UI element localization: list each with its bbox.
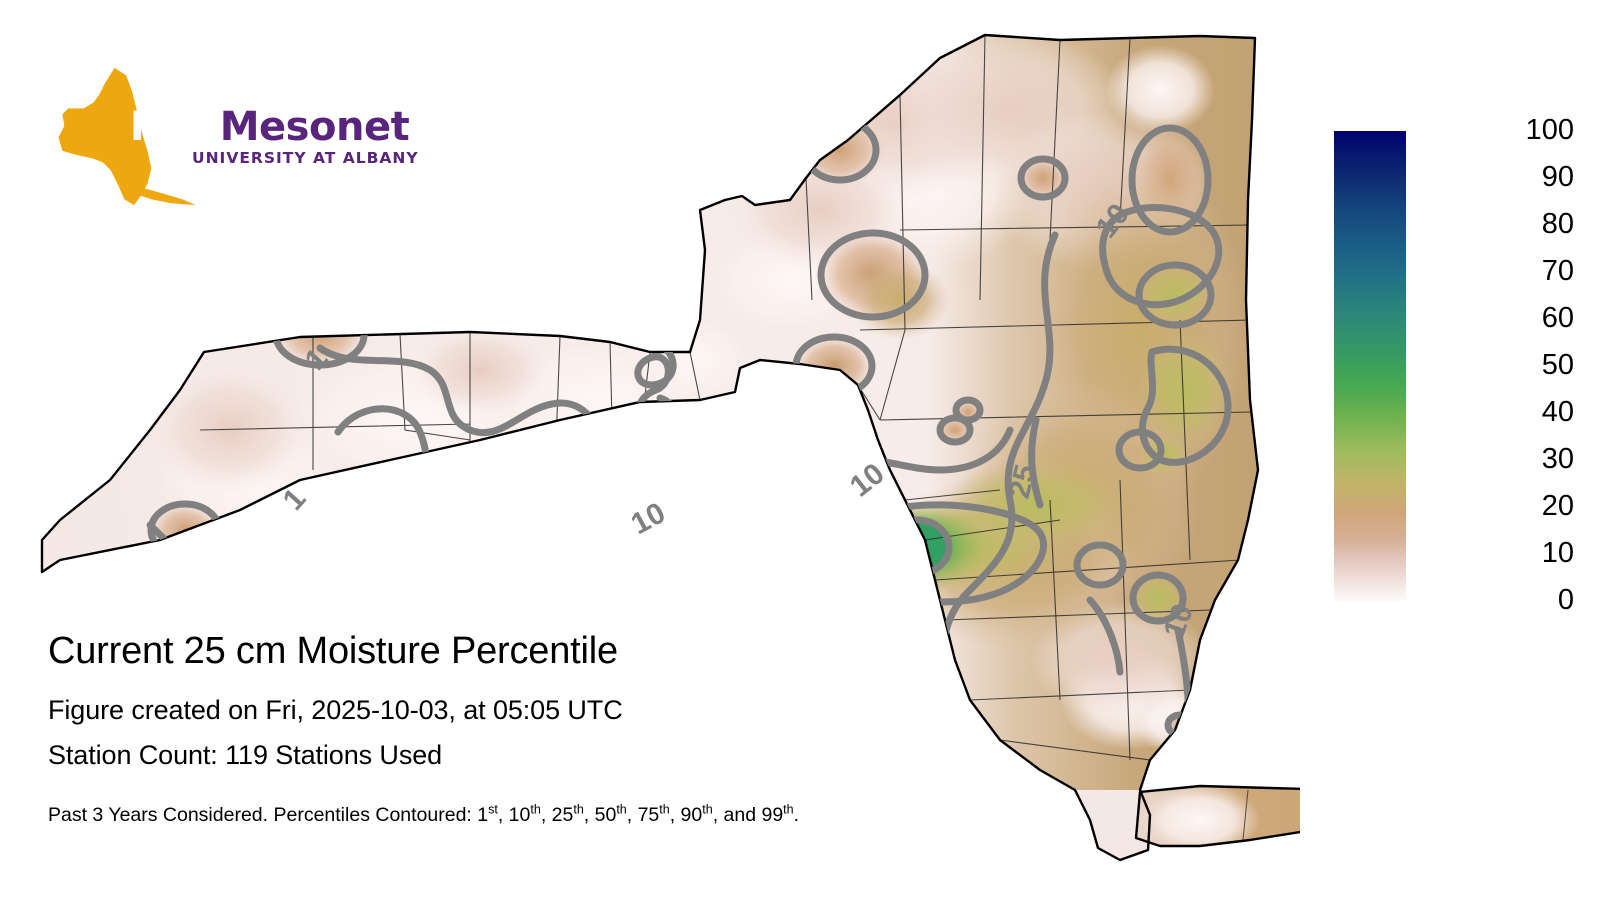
colorbar-tick-40: 40 xyxy=(1454,398,1574,427)
fill-blob xyxy=(400,440,720,600)
logo-mesonet-text: Mesonet xyxy=(220,104,409,150)
caption-block: Current 25 cm Moisture Percentile Figure… xyxy=(48,628,1068,828)
contour-ring xyxy=(643,435,723,501)
station-count-text: Station Count: 119 Stations Used xyxy=(48,733,1068,778)
colorbar-tick-20: 20 xyxy=(1454,492,1574,521)
page-title: Current 25 cm Moisture Percentile xyxy=(48,628,1068,674)
fill-blob xyxy=(150,365,310,495)
logo-subtitle: UNIVERSITY AT ALBANY xyxy=(192,149,450,167)
colorbar-tick-70: 70 xyxy=(1454,257,1574,286)
fill-blob xyxy=(585,422,625,454)
fill-blob xyxy=(650,410,870,530)
colorbar-tick-100: 100 xyxy=(1454,116,1574,145)
colorbar-tick-60: 60 xyxy=(1454,304,1574,333)
colorbar-tick-0: 0 xyxy=(1454,586,1574,615)
nys-mesonet-logo: NYSMesonet UNIVERSITY AT ALBANY xyxy=(52,62,402,207)
figure-created-timestamp: Figure created on Fri, 2025-10-03, at 05… xyxy=(48,688,1068,733)
fill-blob xyxy=(562,455,598,485)
colorbar-tick-30: 30 xyxy=(1454,445,1574,474)
contour-1-south xyxy=(294,510,298,586)
contour-label-1: 1 xyxy=(277,482,313,516)
contour-ring xyxy=(588,424,622,452)
contour-label-10: 10 xyxy=(844,457,891,504)
colorbar-tick-90: 90 xyxy=(1454,163,1574,192)
logo-text: NYSMesonet UNIVERSITY AT ALBANY xyxy=(130,106,450,167)
fill-hotspot xyxy=(845,502,989,592)
colorbar-tick-80: 80 xyxy=(1454,210,1574,239)
colorbar-gradient xyxy=(1334,131,1406,601)
logo-nys-text: NYS xyxy=(130,104,220,150)
colorbar-tick-10: 10 xyxy=(1454,539,1574,568)
logo-wordmark: NYSMesonet xyxy=(130,106,450,148)
colorbar: 1009080706050403020100 xyxy=(1334,122,1574,622)
fill-blob xyxy=(639,432,727,504)
colorbar-tick-50: 50 xyxy=(1454,351,1574,380)
long-island-silhouette xyxy=(140,188,196,205)
contour-ring xyxy=(564,457,596,483)
contour-label-10: 10 xyxy=(626,496,671,541)
contour-footnote: Past 3 Years Considered. Percentiles Con… xyxy=(48,802,1068,828)
